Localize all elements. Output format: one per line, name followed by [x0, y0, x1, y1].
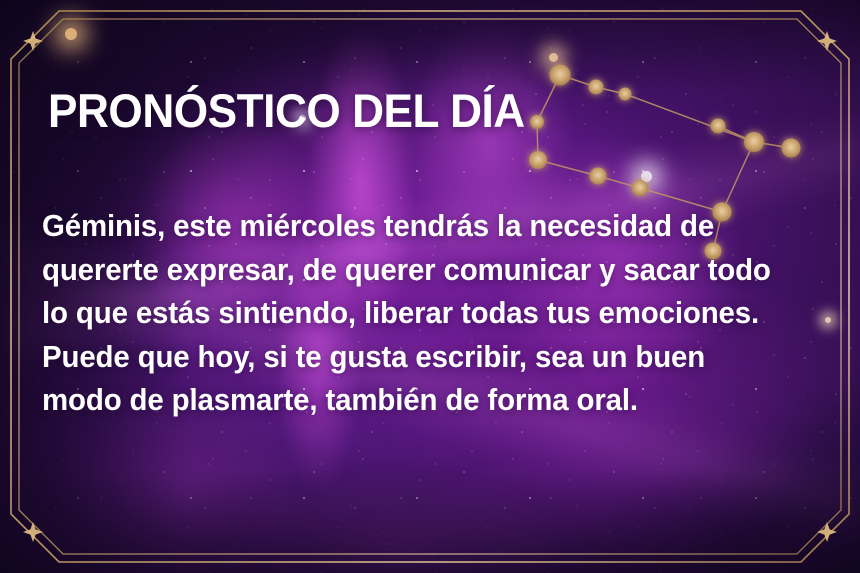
card-content: PRONÓSTICO DEL DÍA Géminis, este miércol… [0, 0, 860, 573]
page-title: PRONÓSTICO DEL DÍA [48, 87, 525, 134]
forecast-text: Géminis, este miércoles tendrás la neces… [42, 205, 785, 423]
horoscope-card: PRONÓSTICO DEL DÍA Géminis, este miércol… [0, 0, 860, 573]
